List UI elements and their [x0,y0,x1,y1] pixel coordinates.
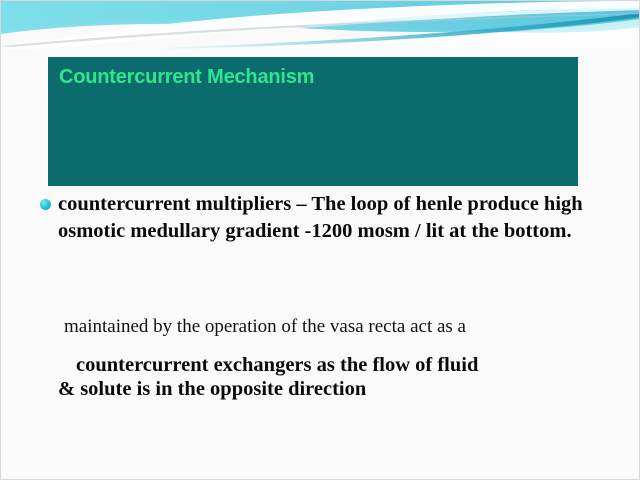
body-paragraph-3: & solute is in the opposite direction [58,376,628,403]
body-paragraph-2-text: countercurrent exchangers as the flow of… [76,352,636,379]
body-paragraph-2: countercurrent exchangers as the flow of… [76,352,636,379]
bullet-text: countercurrent multipliers – The loop of… [58,191,601,245]
bullet-dot-icon [40,199,51,210]
slide: Countercurrent Mechanism countercurrent … [0,0,640,480]
list-item: countercurrent multipliers – The loop of… [1,191,640,245]
page-title: Countercurrent Mechanism [59,66,314,89]
body-paragraph-1: maintained by the operation of the vasa … [64,314,624,340]
header-wave-graphic [1,1,640,49]
body-paragraph-1-text: maintained by the operation of the vasa … [64,314,624,340]
body-paragraph-3-text: & solute is in the opposite direction [58,376,628,403]
title-banner: Countercurrent Mechanism [48,57,578,186]
slide-body: countercurrent multipliers – The loop of… [1,191,640,245]
header-decoration [1,1,640,49]
